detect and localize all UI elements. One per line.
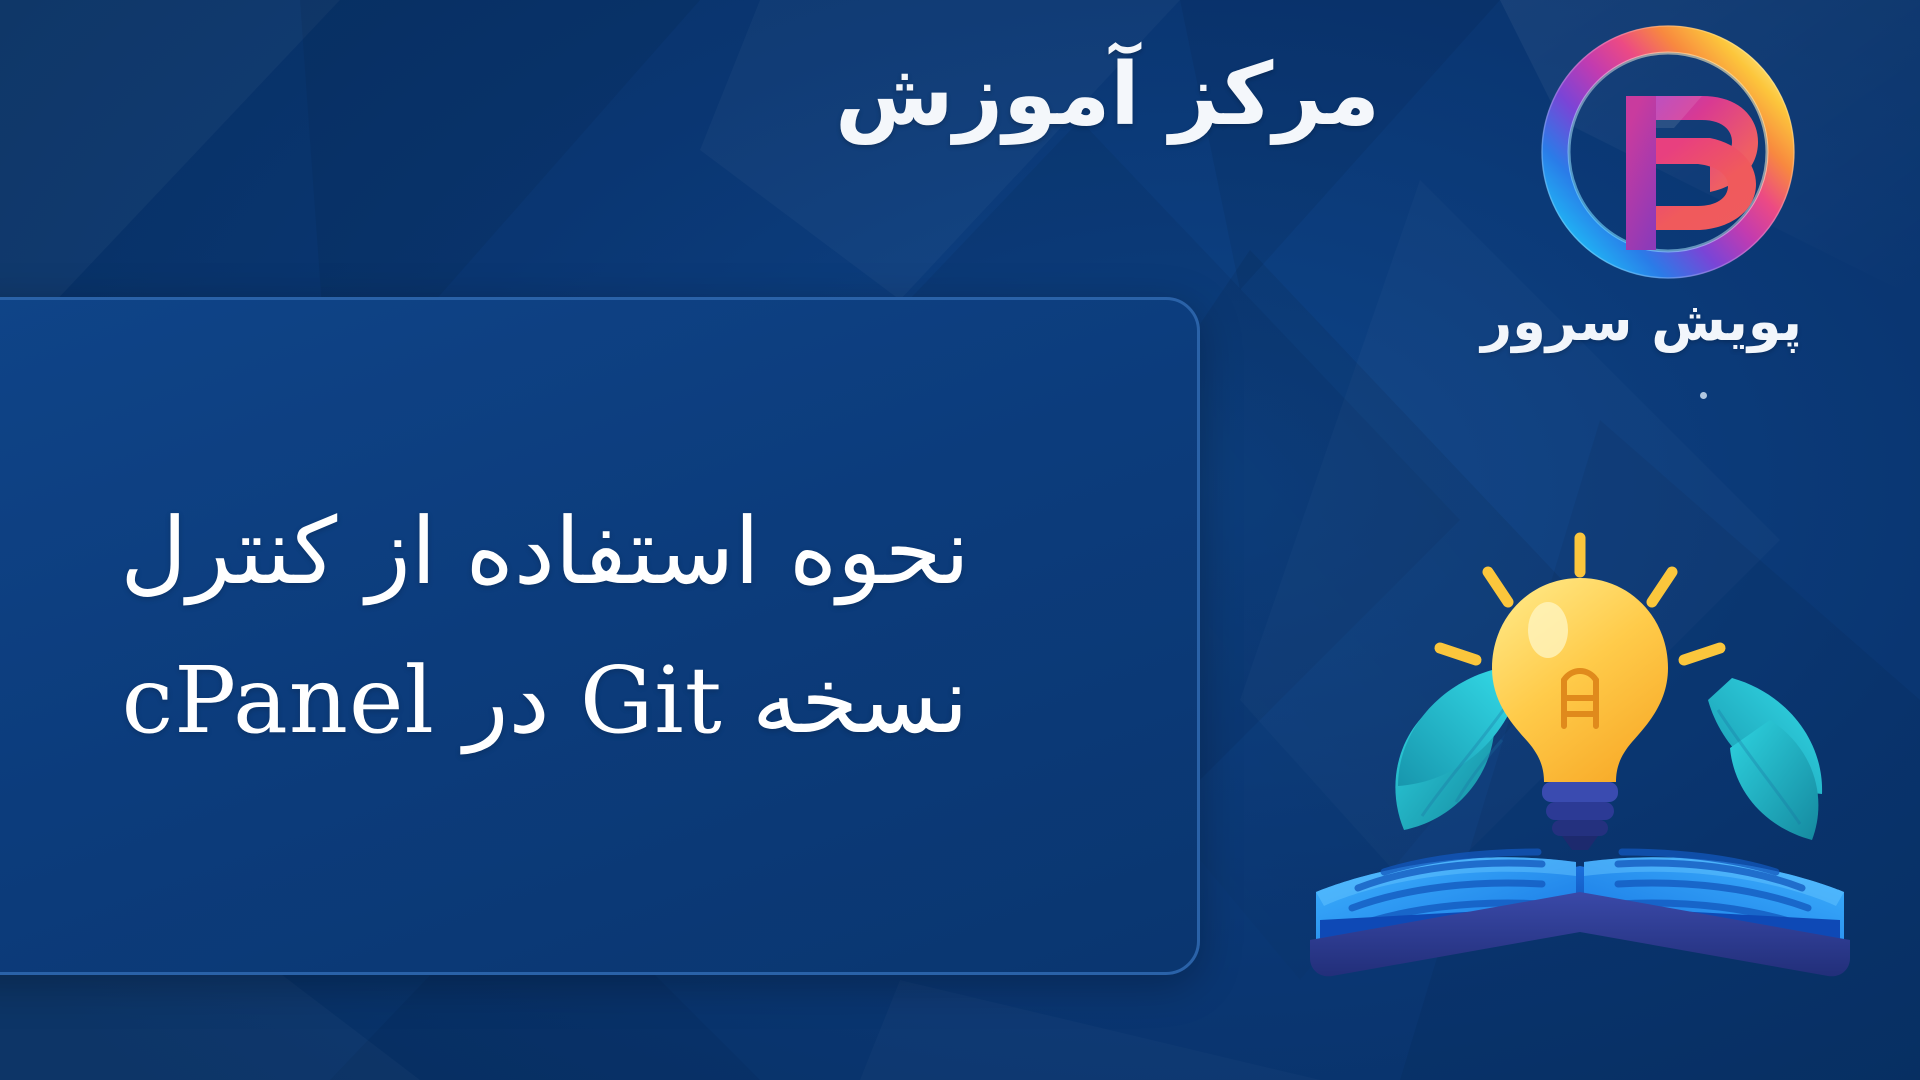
brand-dot-icon <box>1700 392 1707 399</box>
open-book-with-lightbulb-illustration <box>1280 520 1900 1000</box>
lightbulb-base <box>1542 782 1618 802</box>
lesson-title-line-2: نسخه Git در cPanel <box>122 643 969 758</box>
lesson-title-line-1: نحوه استفاده از کنترل <box>120 494 970 609</box>
lightbulb-glass <box>1492 578 1668 782</box>
lesson-card: نحوه استفاده از کنترل نسخه Git در cPanel <box>0 297 1200 975</box>
brand-name: پویش سرور <box>1534 290 1802 353</box>
page-title: مرکز آموزش <box>835 46 1380 145</box>
brand-logo-icon <box>1534 18 1802 286</box>
slide-canvas: مرکز آموزش <box>0 0 1920 1080</box>
